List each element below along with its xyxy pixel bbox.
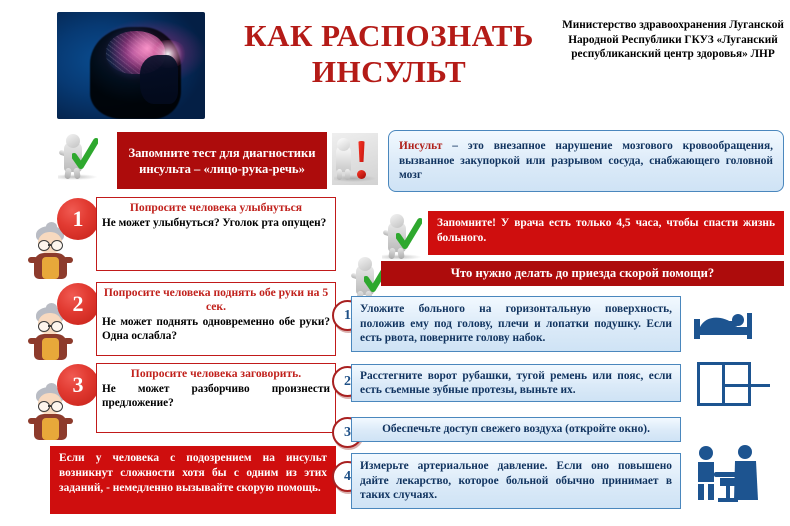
glasses-bridge: [48, 325, 51, 327]
test-step-body-1: Не может улыбнуться? Уголок рта опущен?: [97, 215, 335, 233]
glasses-right-lens: [51, 321, 63, 332]
test-step-box-2: Попросите человека поднять обе руки на 5…: [96, 282, 336, 356]
test-step-title-1: Попросите человека улыбнуться: [97, 198, 335, 215]
figure-leg-left: [337, 169, 342, 180]
person-in-bed-icon: [692, 307, 758, 343]
green-check-icon: [396, 218, 422, 254]
test-header-box: Запомните тест для диагностики инсульта …: [117, 132, 327, 189]
stroke-definition-box: Инсульт – это внезапное нарушение мозгов…: [388, 130, 784, 192]
action-text-3: Обеспечьте доступ свежего воздуха (откро…: [352, 422, 680, 436]
glasses-right-lens: [51, 240, 63, 251]
glasses-bridge: [48, 244, 51, 246]
action-box-3: Обеспечьте доступ свежего воздуха (откро…: [351, 417, 681, 442]
test-step-title-3: Попросите человека заговорить.: [97, 364, 335, 381]
action-text-1: Уложите больного на горизонтальную повер…: [352, 298, 680, 349]
glasses-right-lens: [51, 401, 63, 412]
figure-checkmark-icon-2: [382, 212, 424, 260]
definition-rest: – это внезапное нарушение мозгового кров…: [399, 140, 773, 181]
action-box-2: Расстегните ворот рубашки, тугой ремень …: [351, 364, 681, 402]
action-text-4: Измерьте артериальное давление. Если оно…: [352, 455, 680, 506]
test-step-box-3: Попросите человека заговорить. Не может …: [96, 363, 336, 433]
action-box-4: Измерьте артериальное давление. Если оно…: [351, 453, 681, 509]
page-title: КАК РАСПОЗНАТЬ ИНСУЛЬТ: [228, 18, 550, 90]
window-icon: [697, 362, 751, 406]
step-badge-1: 1: [57, 198, 99, 240]
page-title-line1: КАК РАСПОЗНАТЬ: [228, 18, 550, 54]
green-check-icon: [72, 138, 98, 174]
test-step-title-2: Попросите человека поднять обе руки на 5…: [97, 283, 335, 314]
step-badge-3: 3: [57, 364, 99, 406]
test-step-box-1: Попросите человека улыбнуться Не может у…: [96, 197, 336, 271]
figure-exclamation-icon: [332, 133, 378, 185]
remember-time-note: Запомните! У врача есть только 4,5 часа,…: [428, 211, 784, 255]
hand-shape: [140, 55, 178, 104]
shirt: [42, 418, 59, 440]
test-step-body-2: Не может поднять одновременно обе руки? …: [97, 314, 335, 346]
blood-pressure-icon: [690, 444, 764, 506]
figure-leg-right: [345, 169, 350, 180]
action-box-1: Уложите больного на горизонтальную повер…: [351, 296, 681, 352]
exclamation-bar-icon: [356, 141, 367, 168]
shirt: [42, 257, 59, 279]
actions-header-box: Что нужно делать до приезда скорой помощ…: [381, 261, 784, 286]
figure-checkmark-icon: [58, 132, 100, 180]
definition-keyword: Инсульт: [399, 140, 442, 152]
action-text-2: Расстегните ворот рубашки, тугой ремень …: [352, 365, 680, 402]
brain-stroke-image: [57, 12, 205, 119]
stroke-definition-text: Инсульт – это внезапное нарушение мозгов…: [389, 139, 783, 182]
emergency-warning-box: Если у человека с подозрением на инсульт…: [50, 446, 336, 514]
step-badge-2: 2: [57, 283, 99, 325]
stroke-recognition-poster: КАК РАСПОЗНАТЬ ИНСУЛЬТ Министерство здра…: [0, 0, 790, 526]
figure-head: [337, 138, 350, 151]
poster-header: КАК РАСПОЗНАТЬ ИНСУЛЬТ Министерство здра…: [0, 0, 790, 126]
ministry-attribution: Министерство здравоохранения Луганской Н…: [560, 18, 786, 62]
shirt: [42, 338, 59, 360]
page-title-line2: ИНСУЛЬТ: [228, 54, 550, 90]
exclamation-dot-icon: [357, 170, 366, 179]
window-mullion-horizontal: [722, 384, 770, 387]
test-step-body-3: Не может разборчиво произнести предложен…: [97, 381, 335, 413]
glasses-bridge: [48, 405, 51, 407]
